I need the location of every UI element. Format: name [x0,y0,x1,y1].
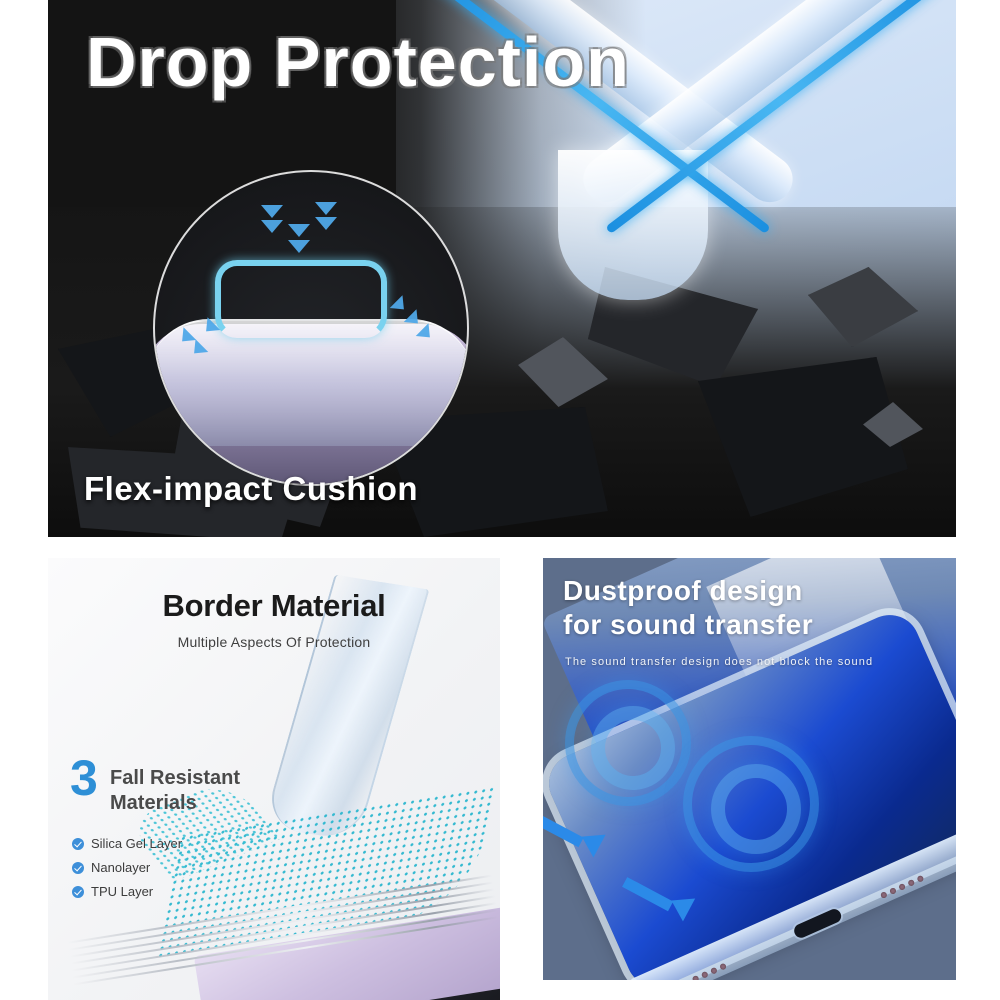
panel-dustproof-sound: Dustproof design for sound transfer The … [543,558,956,980]
dustproof-title-line1: Dustproof design [563,574,933,608]
impact-arrow-right-icon [390,295,411,316]
dustproof-subtitle: The sound transfer design does not block… [565,656,873,668]
frame-gutter-vertical [500,558,543,1000]
silver-layer-line [71,902,496,971]
flex-impact-cushion-caption: Flex-impact Cushion [84,470,418,508]
impact-arrow-down-icon [288,224,310,237]
magnified-corner-inset [153,170,469,486]
frame-margin-right [956,0,1000,1000]
grille-hole [701,970,709,978]
check-circle-icon [72,838,84,850]
silica-gel-layer-slab [194,905,500,1000]
sound-ripple-inner [711,764,801,854]
check-circle-icon [72,886,84,898]
phone-body-slab [274,937,500,1000]
silver-layer-line [73,909,498,978]
sound-ripple-inner [591,706,675,790]
grille-hole [710,966,718,974]
frame-gutter-horizontal [0,537,1000,558]
panel-border-material: Border Material Multiple Aspects Of Prot… [48,558,500,1000]
border-material-subtitle: Multiple Aspects Of Protection [48,634,500,650]
list-item-label: Nanolayer [91,860,150,875]
impact-arrow-down-icon [261,205,283,218]
list-item-label: Silica Gel Layer [91,836,182,851]
material-count: 3 [70,753,98,803]
check-circle-icon [72,862,84,874]
drop-protection-headline: Drop Protection [86,22,630,102]
panel-drop-protection: Drop Protection Flex-impact Cushion [48,0,956,537]
dustproof-title-line2: for sound transfer [563,608,933,642]
grille-hole [916,874,924,882]
frame-margin-bottom [543,980,956,1000]
frame-margin-left [0,0,48,1000]
grille-hole [889,887,897,895]
silver-layer-line [74,916,499,985]
dustproof-title: Dustproof design for sound transfer [563,574,933,642]
charging-port-cutout [792,907,843,940]
material-count-label: Fall Resistant Materials [110,766,300,816]
grille-hole [907,878,915,886]
list-item: Silica Gel Layer [72,836,302,851]
impact-arrow-down-icon [315,202,337,215]
impact-arrow-down-icon [288,240,310,253]
impact-arrow-down-icon [315,217,337,230]
grille-hole [719,962,727,970]
speaker-grille-left [691,961,728,980]
list-item-label: TPU Layer [91,884,153,899]
material-layer-list: Silica Gel Layer Nanolayer TPU Layer [72,836,302,908]
impact-arrow-down-icon [261,220,283,233]
grille-hole [880,891,888,899]
border-material-title: Border Material [48,588,500,624]
grille-hole [898,882,906,890]
speaker-grille-right [879,873,925,900]
list-item: TPU Layer [72,884,302,899]
air-cushion-outline [215,260,387,338]
list-item: Nanolayer [72,860,302,875]
